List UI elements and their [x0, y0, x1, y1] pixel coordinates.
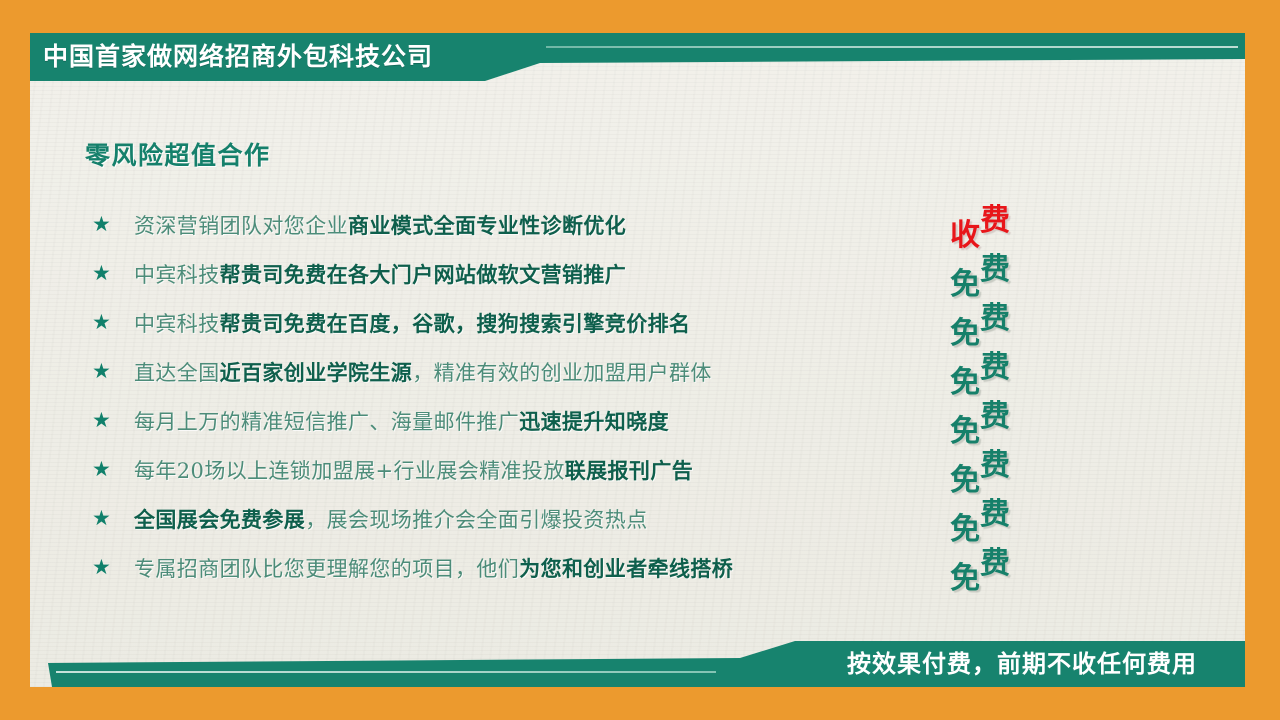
- price-column: 收费免费免费免费免费免费免费免费: [950, 196, 1070, 588]
- page-title: 零风险超值合作: [85, 136, 271, 172]
- list-item-text: 每月上万的精准短信推广、海量邮件推广迅速提升知晓度: [134, 406, 669, 436]
- star-icon: ★: [92, 459, 134, 480]
- top-banner-title: 中国首家做网络招商外包科技公司: [43, 38, 433, 76]
- list-item-text: 每年20场以上连锁加盟展+行业展会精准投放联展报刊广告: [134, 455, 693, 485]
- list-item: ★每月上万的精准短信推广、海量邮件推广迅速提升知晓度: [92, 396, 972, 445]
- price-label: 免费: [950, 539, 1070, 588]
- benefit-list: ★资深营销团队对您企业商业模式全面专业性诊断优化★中宾科技帮贵司免费在各大门户网…: [92, 200, 972, 592]
- bottom-banner-text: 按效果付费，前期不收任何费用: [847, 648, 1197, 680]
- star-icon: ★: [92, 557, 134, 578]
- list-item: ★专属招商团队比您更理解您的项目，他们为您和创业者牵线搭桥: [92, 543, 972, 592]
- price-label: 免费: [950, 392, 1070, 441]
- price-char-second: 费: [980, 538, 1009, 582]
- price-char-second: 费: [980, 244, 1009, 288]
- price-label: 免费: [950, 294, 1070, 343]
- price-char-second: 费: [980, 489, 1009, 533]
- star-icon: ★: [92, 410, 134, 431]
- price-char-second: 费: [980, 195, 1009, 239]
- star-icon: ★: [92, 361, 134, 382]
- star-icon: ★: [92, 263, 134, 284]
- price-char-second: 费: [980, 440, 1009, 484]
- price-char-second: 费: [980, 391, 1009, 435]
- price-char-first: 免: [950, 553, 979, 597]
- list-item: ★中宾科技帮贵司免费在各大门户网站做软文营销推广: [92, 249, 972, 298]
- price-label: 免费: [950, 490, 1070, 539]
- price-char-second: 费: [980, 293, 1009, 337]
- list-item-text: 中宾科技帮贵司免费在百度，谷歌，搜狗搜索引擎竞价排名: [134, 308, 690, 338]
- star-icon: ★: [92, 214, 134, 235]
- price-label: 免费: [950, 343, 1070, 392]
- list-item-text: 中宾科技帮贵司免费在各大门户网站做软文营销推广: [134, 259, 626, 289]
- price-label: 收费: [950, 196, 1070, 245]
- top-banner-hairline: [546, 46, 1238, 48]
- list-item-text: 直达全国近百家创业学院生源，精准有效的创业加盟用户群体: [134, 357, 712, 387]
- price-char-second: 费: [980, 342, 1009, 386]
- list-item: ★资深营销团队对您企业商业模式全面专业性诊断优化: [92, 200, 972, 249]
- star-icon: ★: [92, 312, 134, 333]
- star-icon: ★: [92, 508, 134, 529]
- slide-canvas: 中国首家做网络招商外包科技公司 零风险超值合作 ★资深营销团队对您企业商业模式全…: [0, 0, 1280, 720]
- list-item: ★每年20场以上连锁加盟展+行业展会精准投放联展报刊广告: [92, 445, 972, 494]
- list-item: ★中宾科技帮贵司免费在百度，谷歌，搜狗搜索引擎竞价排名: [92, 298, 972, 347]
- list-item-text: 专属招商团队比您更理解您的项目，他们为您和创业者牵线搭桥: [134, 553, 733, 583]
- bottom-banner-hairline: [56, 671, 716, 673]
- list-item: ★直达全国近百家创业学院生源，精准有效的创业加盟用户群体: [92, 347, 972, 396]
- list-item: ★全国展会免费参展，展会现场推介会全面引爆投资热点: [92, 494, 972, 543]
- list-item-text: 全国展会免费参展，展会现场推介会全面引爆投资热点: [134, 504, 648, 534]
- price-label: 免费: [950, 441, 1070, 490]
- price-label: 免费: [950, 245, 1070, 294]
- list-item-text: 资深营销团队对您企业商业模式全面专业性诊断优化: [134, 210, 626, 240]
